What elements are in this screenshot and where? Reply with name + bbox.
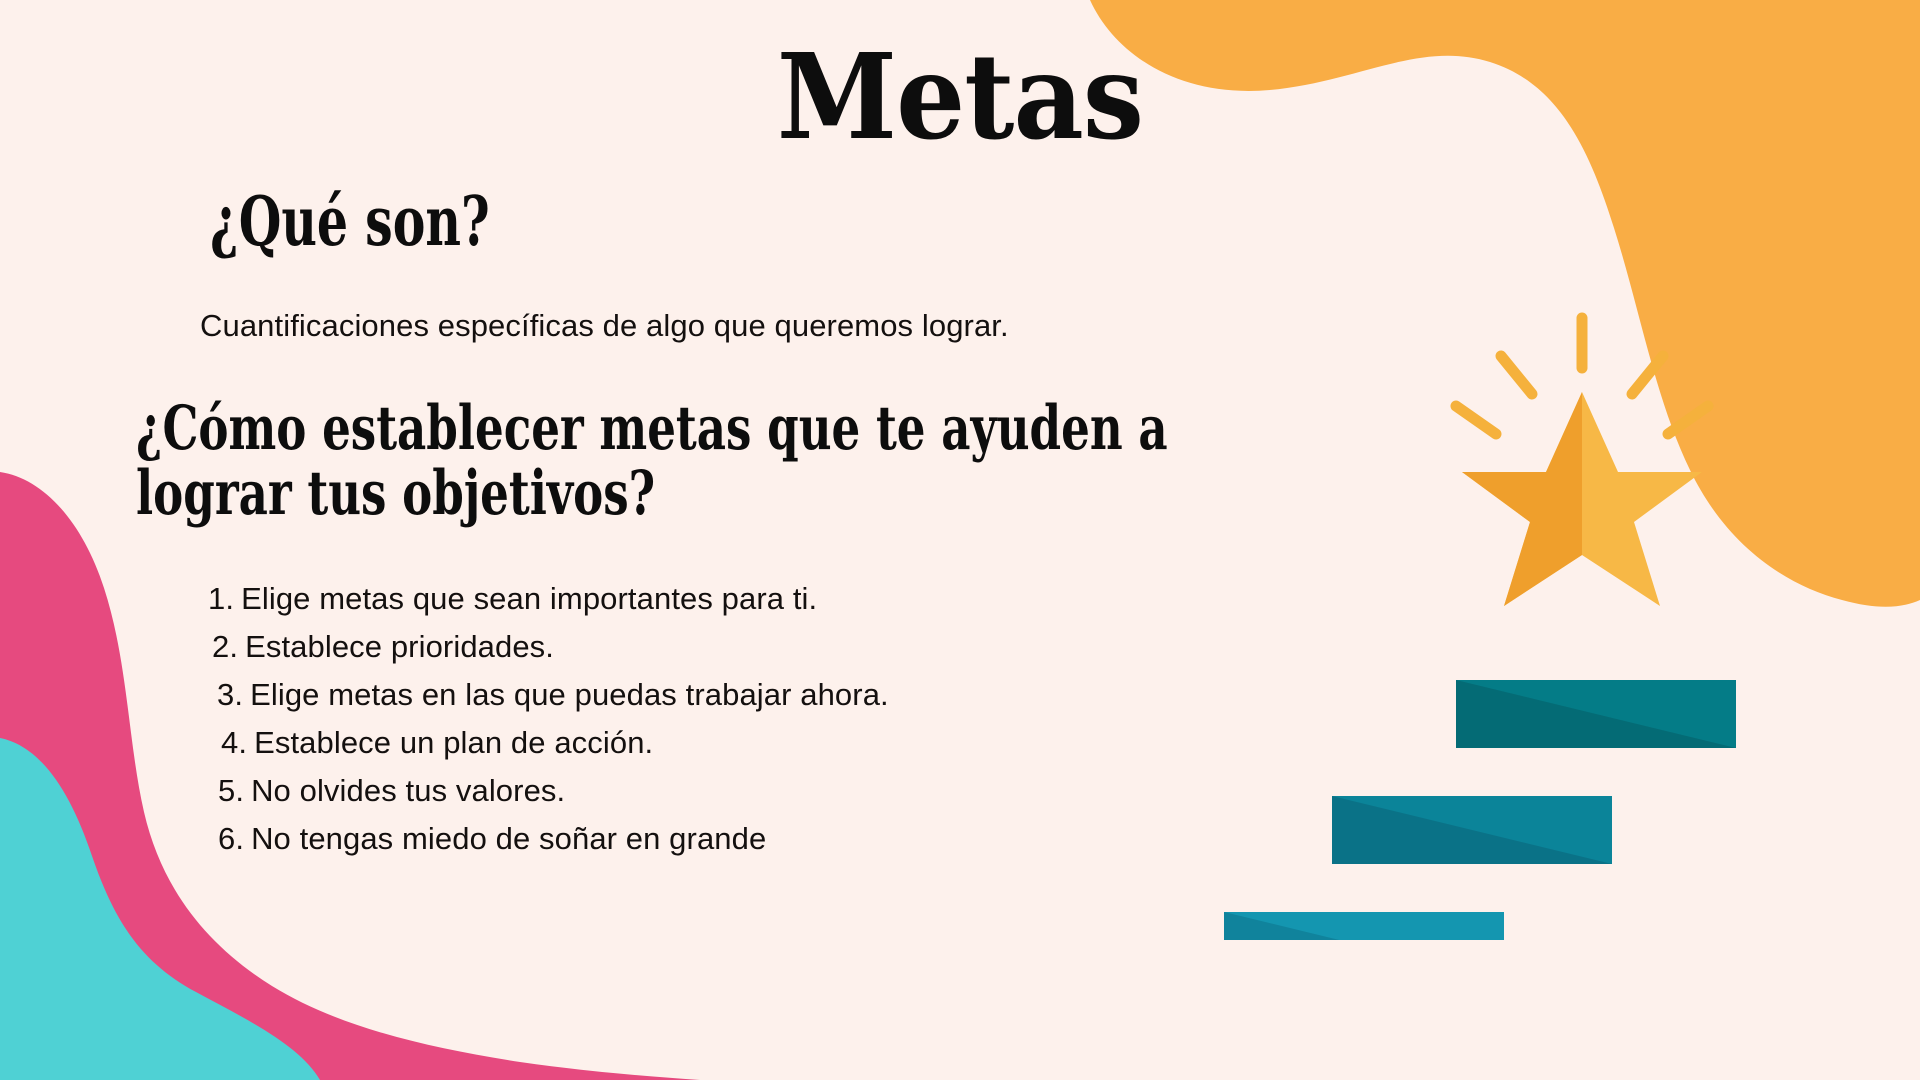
list-item: 4.Establece un plan de acción. xyxy=(208,719,889,767)
list-item-label: Elige metas que sean importantes para ti… xyxy=(241,581,817,616)
slide-canvas: Metas ¿Qué son? Cuantificaciones específ… xyxy=(0,0,1920,1080)
stair-step-2 xyxy=(1224,912,1504,940)
sparkle-ray-upper-right xyxy=(1632,356,1663,394)
list-item-number: 4. xyxy=(221,725,247,760)
sparkle-ray-left xyxy=(1456,406,1496,434)
section-heading: ¿Cómo establecer metas que te ayuden a l… xyxy=(136,396,1187,527)
stair-step-4 xyxy=(1456,680,1736,748)
list-item: 3.Elige metas en las que puedas trabajar… xyxy=(208,671,889,719)
stair-step-3 xyxy=(1332,796,1612,864)
steps-list: 1.Elige metas que sean importantes para … xyxy=(208,575,889,863)
list-item-label: No tengas miedo de soñar en grande xyxy=(251,821,766,856)
list-item-label: Establece prioridades. xyxy=(245,629,554,664)
list-item-number: 2. xyxy=(212,629,238,664)
star-illustration xyxy=(1432,300,1732,630)
stair-steps-icon xyxy=(1100,600,1920,940)
list-item-number: 1. xyxy=(208,581,234,616)
list-item-label: Elige metas en las que puedas trabajar a… xyxy=(250,677,889,712)
sparkle-ray-right xyxy=(1668,406,1708,434)
list-item: 1.Elige metas que sean importantes para … xyxy=(208,575,889,623)
list-item-number: 6. xyxy=(218,821,244,856)
sparkle-ray-upper-left xyxy=(1501,356,1532,394)
definition-text: Cuantificaciones específicas de algo que… xyxy=(200,306,1009,346)
list-item: 6.No tengas miedo de soñar en grande xyxy=(208,815,889,863)
list-item: 2.Establece prioridades. xyxy=(208,623,889,671)
list-item-label: No olvides tus valores. xyxy=(251,773,565,808)
page-title: Metas xyxy=(77,38,1843,156)
list-item-label: Establece un plan de acción. xyxy=(254,725,653,760)
section-subtitle: ¿Qué son? xyxy=(210,188,490,256)
list-item-number: 3. xyxy=(217,677,243,712)
list-item-number: 5. xyxy=(218,773,244,808)
star-icon xyxy=(1462,392,1702,606)
list-item: 5.No olvides tus valores. xyxy=(208,767,889,815)
